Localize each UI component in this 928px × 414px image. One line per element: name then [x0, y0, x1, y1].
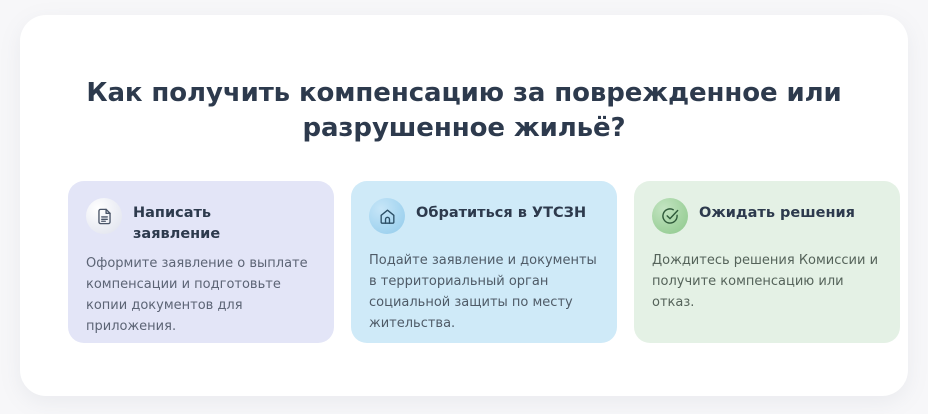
card-title: Ожидать решения — [699, 197, 855, 224]
card-header: Написать заявление — [86, 197, 316, 244]
content-panel: Как получить компенсацию за поврежденное… — [20, 15, 908, 396]
card-description: Подайте заявление и документы в территор… — [369, 250, 599, 334]
step-card-contact-utszn: Обратиться в УТСЗН Подайте заявление и д… — [351, 181, 617, 343]
card-title: Написать заявление — [133, 197, 253, 244]
home-icon — [369, 198, 405, 234]
card-header: Ожидать решения — [652, 197, 882, 241]
document-icon — [86, 198, 122, 234]
page-title: Как получить компенсацию за поврежденное… — [80, 76, 848, 145]
check-circle-icon — [652, 198, 688, 234]
card-header: Обратиться в УТСЗН — [369, 197, 599, 241]
card-title: Обратиться в УТСЗН — [416, 197, 586, 224]
page-root: Как получить компенсацию за поврежденное… — [0, 0, 928, 414]
steps-card-list: Написать заявление Оформите заявление о … — [68, 181, 900, 343]
card-description: Дождитесь решения Комиссии и получите ко… — [652, 250, 882, 313]
step-card-write-application: Написать заявление Оформите заявление о … — [68, 181, 334, 343]
card-description: Оформите заявление о выплате компенсации… — [86, 253, 316, 337]
step-card-await-decision: Ожидать решения Дождитесь решения Комисс… — [634, 181, 900, 343]
